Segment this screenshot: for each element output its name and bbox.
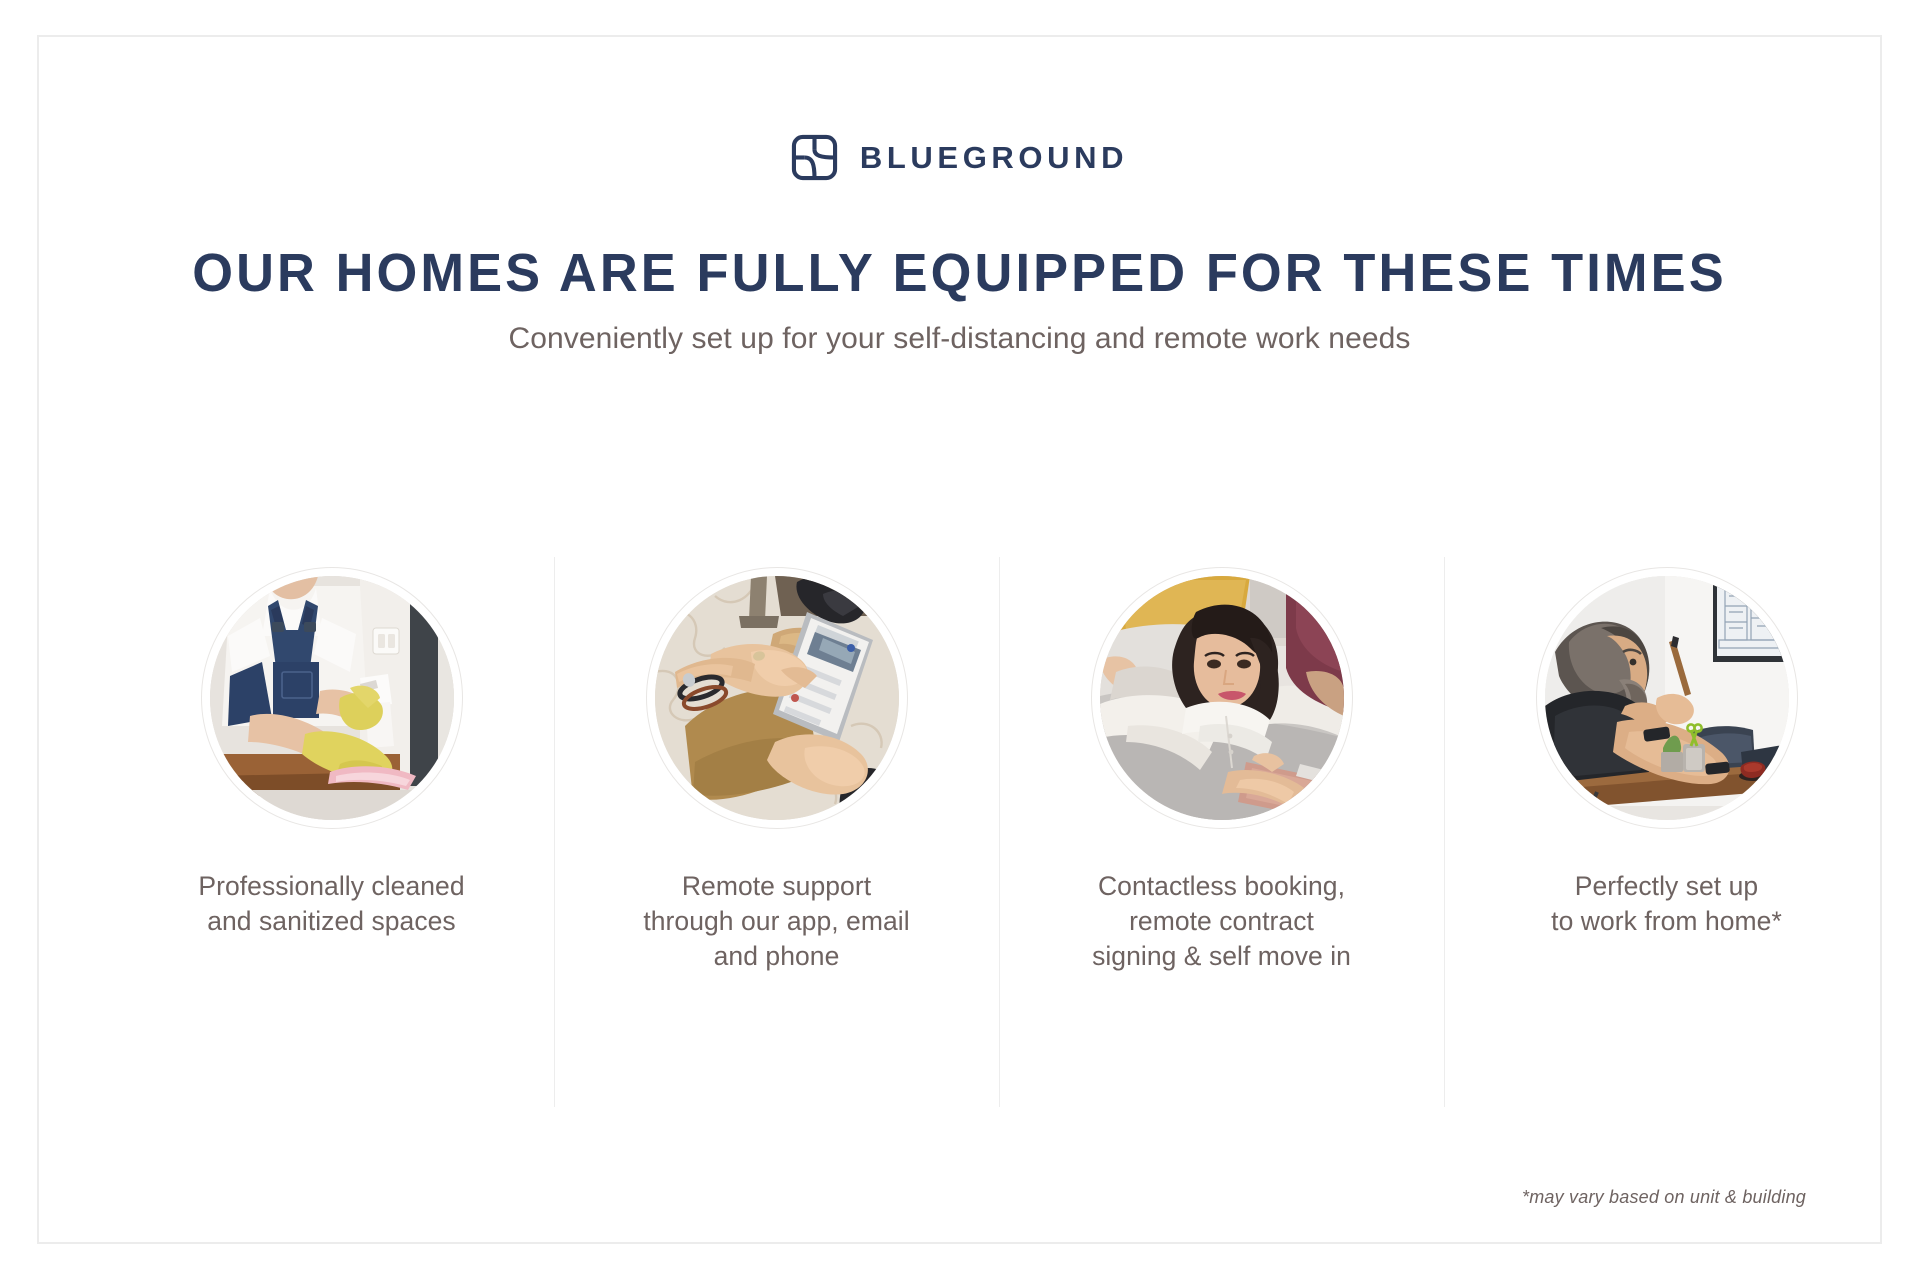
- page-subtitle: Conveniently set up for your self-distan…: [39, 322, 1880, 356]
- feature-caption: Perfectly set up to work from home*: [1551, 869, 1782, 939]
- feature-image-frame: [1091, 567, 1353, 829]
- feature-image-frame: [201, 567, 463, 829]
- blueground-square-logo-icon: [791, 134, 838, 181]
- photo-hands-using-smartphone-app: [655, 576, 899, 820]
- infographic-page: BLUEGROUND OUR HOMES ARE FULLY EQUIPPED …: [0, 0, 1920, 1280]
- brand-logo: BLUEGROUND: [39, 134, 1880, 181]
- photo-cleaner-sanitizing-counter: [210, 576, 454, 820]
- page-title: OUR HOMES ARE FULLY EQUIPPED FOR THESE T…: [67, 242, 1853, 304]
- feature-column-contactless: Contactless booking, remote contract sig…: [999, 557, 1444, 1107]
- brand-wordmark: BLUEGROUND: [860, 142, 1128, 173]
- feature-image-frame: [646, 567, 908, 829]
- feature-caption: Contactless booking, remote contract sig…: [1092, 869, 1351, 974]
- feature-image-frame: [1536, 567, 1798, 829]
- feature-column-support: Remote support through our app, email an…: [554, 557, 999, 1107]
- content-frame: BLUEGROUND OUR HOMES ARE FULLY EQUIPPED …: [37, 35, 1882, 1244]
- feature-column-cleaning: Professionally cleaned and sanitized spa…: [109, 557, 554, 1107]
- feature-caption: Remote support through our app, email an…: [643, 869, 909, 974]
- feature-columns: Professionally cleaned and sanitized spa…: [109, 557, 1889, 1107]
- photo-woman-on-bed-with-tablet: [1100, 576, 1344, 820]
- feature-caption: Professionally cleaned and sanitized spa…: [198, 869, 464, 939]
- feature-column-work-from-home: Perfectly set up to work from home*: [1444, 557, 1889, 1107]
- footnote-disclaimer: *may vary based on unit & building: [1522, 1187, 1806, 1208]
- photo-man-working-at-desk-with-laptop: [1545, 576, 1789, 820]
